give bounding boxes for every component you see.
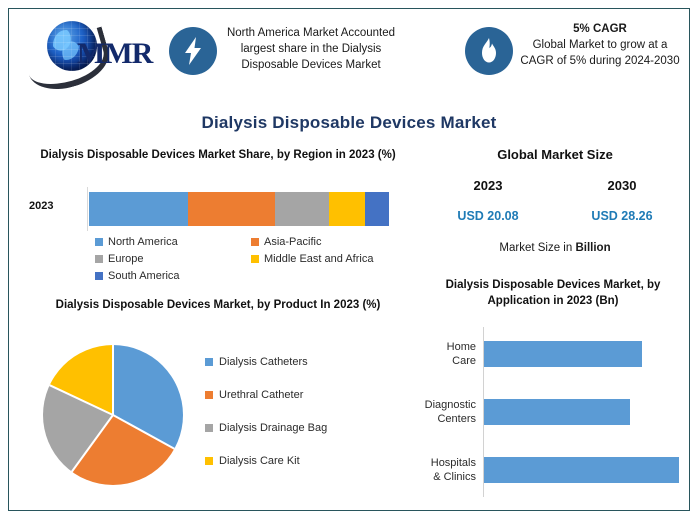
infographic-frame: MMR North America Market Accounted large… — [8, 8, 690, 511]
product-share-chart: Dialysis Disposable Devices Market, by P… — [23, 297, 413, 509]
application-bar — [484, 341, 642, 367]
highlight-1-line-1: North America Market Accounted — [223, 25, 399, 41]
highlight-2-heading: 5% CAGR — [507, 21, 693, 37]
region-legend-label: Asia-Pacific — [264, 236, 321, 248]
header-highlight-1: North America Market Accounted largest s… — [169, 25, 399, 81]
global-market-size-panel: Global Market Size 2023 2030 USD 20.08 U… — [421, 147, 689, 272]
header-highlight-1-text: North America Market Accounted largest s… — [223, 25, 399, 73]
global-market-size-values: USD 20.08 USD 28.26 — [421, 209, 689, 223]
legend-swatch-icon — [251, 238, 259, 246]
legend-swatch-icon — [205, 424, 213, 432]
region-legend-label: Middle East and Africa — [264, 253, 373, 265]
region-share-title: Dialysis Disposable Devices Market Share… — [23, 147, 413, 163]
highlight-2-line-2: CAGR of 5% during 2024-2030 — [507, 53, 693, 69]
application-bar-row: HomeCare — [484, 341, 689, 367]
application-bar-label: Hospitals& Clinics — [431, 456, 476, 484]
legend-swatch-icon — [251, 255, 259, 263]
product-legend-item: Dialysis Drainage Bag — [205, 411, 405, 444]
legend-swatch-icon — [205, 457, 213, 465]
lightning-bolt-icon — [169, 27, 217, 75]
product-legend-item: Dialysis Catheters — [205, 345, 405, 378]
application-chart: Dialysis Disposable Devices Market, by A… — [413, 277, 693, 513]
region-legend-item: Asia-Pacific — [251, 233, 407, 250]
flame-icon — [465, 27, 513, 75]
product-pie — [43, 345, 183, 485]
region-segment-0 — [89, 192, 188, 226]
region-segment-4 — [365, 192, 389, 226]
product-legend: Dialysis CathetersUrethral CatheterDialy… — [205, 345, 405, 477]
region-stacked-bar — [89, 192, 389, 226]
gms-value-left: USD 20.08 — [421, 209, 555, 223]
global-market-size-title: Global Market Size — [421, 147, 689, 162]
region-legend-item: Europe — [95, 250, 251, 267]
application-label-line-1: Home — [447, 340, 476, 354]
region-legend-label: North America — [108, 236, 178, 248]
product-share-title: Dialysis Disposable Devices Market, by P… — [23, 297, 413, 313]
region-legend-label: South America — [108, 270, 180, 282]
product-legend-label: Urethral Catheter — [219, 389, 303, 401]
legend-swatch-icon — [95, 272, 103, 280]
pie-slice-divider — [113, 414, 175, 449]
region-legend-item: Middle East and Africa — [251, 250, 407, 267]
region-legend-label: Europe — [108, 253, 143, 265]
application-bar-label: HomeCare — [447, 340, 476, 368]
region-segment-2 — [275, 192, 329, 226]
gms-year-right: 2030 — [555, 178, 689, 193]
global-market-size-footnote: Market Size in Billion — [421, 242, 689, 254]
highlight-2-line-1: Global Market to grow at a — [507, 37, 693, 53]
pie-slice-divider — [71, 414, 114, 472]
application-label-line-1: Diagnostic — [425, 398, 476, 412]
product-legend-label: Dialysis Care Kit — [219, 455, 300, 467]
legend-swatch-icon — [205, 391, 213, 399]
product-legend-label: Dialysis Drainage Bag — [219, 422, 327, 434]
region-legend: North AmericaAsia-PacificEuropeMiddle Ea… — [95, 233, 407, 284]
application-bar-row: Hospitals& Clinics — [484, 457, 689, 483]
global-market-size-years: 2023 2030 — [421, 178, 689, 193]
header-highlight-2: 5% CAGR Global Market to grow at a CAGR … — [465, 25, 693, 81]
product-legend-item: Urethral Catheter — [205, 378, 405, 411]
gms-footnote-unit: Billion — [575, 242, 610, 254]
page-title: Dialysis Disposable Devices Market — [9, 113, 689, 133]
application-title: Dialysis Disposable Devices Market, by A… — [413, 277, 693, 309]
application-label-line-2: Centers — [425, 412, 476, 426]
product-legend-label: Dialysis Catheters — [219, 356, 308, 368]
mmr-logo: MMR — [21, 15, 156, 85]
region-axis-line — [87, 187, 88, 231]
region-stack — [89, 192, 389, 226]
region-segment-1 — [188, 192, 275, 226]
legend-swatch-icon — [95, 255, 103, 263]
legend-swatch-icon — [205, 358, 213, 366]
region-share-chart: Dialysis Disposable Devices Market Share… — [23, 147, 413, 287]
application-label-line-2: Care — [447, 354, 476, 368]
header: MMR North America Market Accounted large… — [9, 9, 689, 93]
region-category-label: 2023 — [29, 200, 53, 212]
application-label-line-1: Hospitals — [431, 456, 476, 470]
region-legend-item: South America — [95, 267, 251, 284]
pie-slice-divider — [49, 384, 113, 416]
application-bar — [484, 399, 630, 425]
gms-footnote-prefix: Market Size in — [499, 242, 575, 254]
header-highlight-2-text: 5% CAGR Global Market to grow at a CAGR … — [507, 21, 693, 69]
gms-value-right: USD 28.26 — [555, 209, 689, 223]
application-bar — [484, 457, 679, 483]
product-legend-item: Dialysis Care Kit — [205, 444, 405, 477]
application-bar-row: DiagnosticCenters — [484, 399, 689, 425]
highlight-1-line-2: largest share in the Dialysis — [223, 41, 399, 57]
region-segment-3 — [329, 192, 365, 226]
pie-slice-divider — [112, 345, 114, 415]
brand-name: MMR — [77, 37, 152, 71]
region-legend-item: North America — [95, 233, 251, 250]
gms-year-left: 2023 — [421, 178, 555, 193]
application-plot: HomeCareDiagnosticCentersHospitals& Clin… — [483, 327, 689, 497]
application-label-line-2: & Clinics — [431, 470, 476, 484]
highlight-1-line-3: Disposable Devices Market — [223, 57, 399, 73]
legend-swatch-icon — [95, 238, 103, 246]
application-bar-label: DiagnosticCenters — [425, 398, 476, 426]
